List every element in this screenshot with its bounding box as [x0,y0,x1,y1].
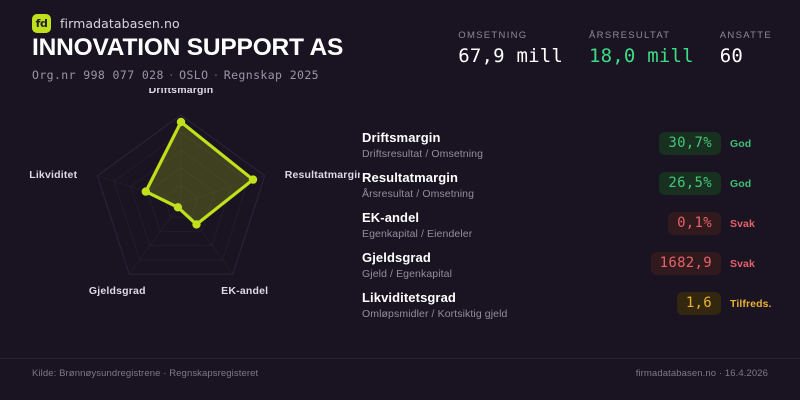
metric-verdict: God [730,178,782,190]
metric-value-group: 0,1% Svak [582,212,782,235]
brand-name: firmadatabasen.no [60,16,180,31]
metric-value-badge: 1682,9 [651,252,721,275]
footer-divider [0,358,800,359]
radar-data-point [249,175,257,183]
metric-verdict: Svak [730,218,782,230]
radar-axis-spoke [129,203,181,274]
metric-verdict: Tilfreds. [730,298,782,310]
radar-data-point [192,220,200,228]
metric-formula: Omløpsmidler / Kortsiktig gjeld [362,308,507,320]
kpi-strip: OMSETNING 67,9 mill ÅRSRESULTAT 18,0 mil… [458,30,772,66]
kpi-value: 18,0 mill [589,47,694,66]
metric-value-badge: 30,7% [659,132,721,155]
metric-value-group: 26,5% God [582,172,782,195]
card-footer: Kilde: Brønnøysundregistrene · Regnskaps… [0,368,800,392]
metric-name: EK-andel [362,210,419,225]
metric-list: Driftsmargin Driftsresultat / Omsetning … [362,130,782,330]
key-ratio-radar-chart: DriftsmarginResultatmarginEK-andelGjelds… [0,88,360,338]
metric-value-group: 30,7% God [582,132,782,155]
org-number: Org.nr 998 077 028 [32,68,164,82]
radar-axis-label: Likviditet [29,169,77,181]
radar-axis-label: Gjeldsgrad [89,285,146,297]
kpi-label: ÅRSRESULTAT [589,30,694,41]
metric-formula: Driftsresultat / Omsetning [362,148,483,160]
radar-data-point [177,118,185,126]
metric-formula: Gjeld / Egenkapital [362,268,452,280]
metric-verdict: Svak [730,258,782,270]
meta-separator-1: · [164,68,179,82]
firmadatabasen-logo-icon: fd [32,14,51,33]
radar-data-point [174,203,182,211]
metric-name: Resultatmargin [362,170,458,185]
footer-source: Kilde: Brønnøysundregistrene · Regnskaps… [32,368,258,379]
metric-row-resultatmargin[interactable]: Resultatmargin Årsresultat / Omsetning 2… [362,170,782,209]
metric-value-group: 1,6 Tilfreds. [582,292,782,315]
metric-row-driftsmargin[interactable]: Driftsmargin Driftsresultat / Omsetning … [362,130,782,169]
metric-row-ek-andel[interactable]: EK-andel Egenkapital / Eiendeler 0,1% Sv… [362,210,782,249]
footer-stamp: firmadatabasen.no · 16.4.2026 [636,368,768,379]
radar-svg: DriftsmarginResultatmarginEK-andelGjelds… [0,88,360,338]
kpi-value: 67,9 mill [458,47,563,66]
metric-verdict: God [730,138,782,150]
radar-data-point [142,187,150,195]
metric-value-group: 1682,9 Svak [582,252,782,275]
metric-row-likviditetsgrad[interactable]: Likviditetsgrad Omløpsmidler / Kortsikti… [362,290,782,329]
kpi-value: 60 [720,47,772,66]
kpi-label: OMSETNING [458,30,563,41]
brand[interactable]: fd firmadatabasen.no [32,14,180,33]
kpi-omsetning: OMSETNING 67,9 mill [458,30,563,66]
kpi-label: ANSATTE [720,30,772,41]
metric-row-gjeldsgrad[interactable]: Gjeldsgrad Gjeld / Egenkapital 1682,9 Sv… [362,250,782,289]
metric-formula: Årsresultat / Omsetning [362,188,474,200]
metric-name: Likviditetsgrad [362,290,456,305]
card-header: fd firmadatabasen.no INNOVATION SUPPORT … [0,0,800,90]
metric-formula: Egenkapital / Eiendeler [362,228,472,240]
meta-separator-2: · [208,68,223,82]
metric-value-badge: 1,6 [677,292,721,315]
radar-axis-label: EK-andel [221,285,268,297]
metric-value-badge: 0,1% [668,212,721,235]
metric-value-badge: 26,5% [659,172,721,195]
metric-name: Gjeldsgrad [362,250,431,265]
company-key-figures-card: fd firmadatabasen.no INNOVATION SUPPORT … [0,0,800,400]
radar-series-area [146,122,253,224]
metric-name: Driftsmargin [362,130,441,145]
accounting-year: Regnskap 2025 [224,68,319,82]
company-city: OSLO [179,68,208,82]
kpi-ansatte: ANSATTE 60 [720,30,772,66]
radar-axis-label: Resultatmargin [285,169,360,181]
kpi-arsresultat: ÅRSRESULTAT 18,0 mill [589,30,694,66]
company-meta: Org.nr 998 077 028·OSLO·Regnskap 2025 [32,68,319,82]
page-title: INNOVATION SUPPORT AS [32,34,343,62]
radar-axis-label: Driftsmargin [149,88,214,96]
